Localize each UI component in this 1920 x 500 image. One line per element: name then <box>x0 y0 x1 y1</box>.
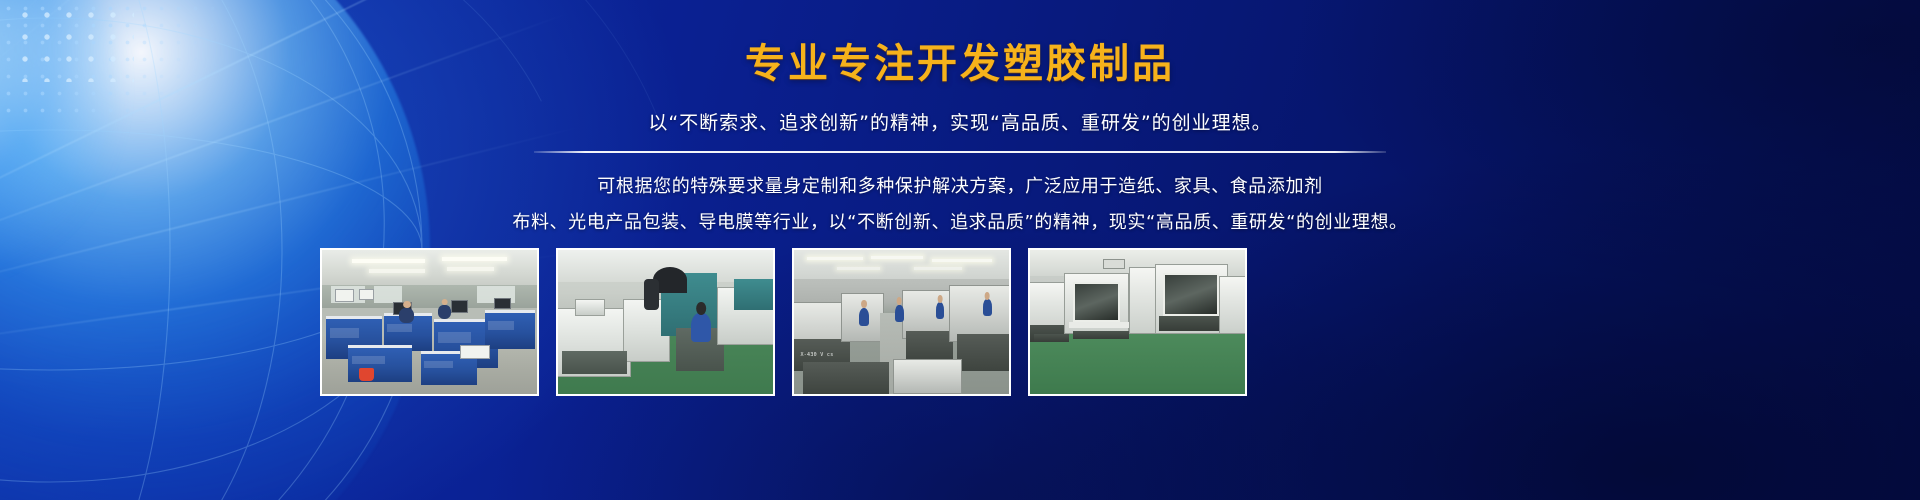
photo-3-scene: X-430 V cs <box>794 250 1009 394</box>
banner-title: 专业专注开发塑胶制品 <box>0 42 1920 86</box>
horizontal-divider <box>534 151 1386 153</box>
photo-production-line-hall: X-430 V cs <box>792 248 1011 396</box>
photo-1-scene <box>322 250 537 394</box>
banner-subtitle: 以“不断索求、追求创新”的精神，实现“高品质、重研发”的创业理想。 <box>0 108 1920 135</box>
photo-cnc-machining-shop <box>556 248 775 396</box>
photo-cnc-enclosed-machine <box>1028 248 1247 396</box>
photo-4-scene <box>1030 250 1245 394</box>
banner-body-line-1: 可根据您的特殊要求量身定制和多种保护解决方案，广泛应用于造纸、家具、食品添加剂 <box>0 169 1920 205</box>
hero-banner: 专业专注开发塑胶制品 以“不断索求、追求创新”的精神，实现“高品质、重研发”的创… <box>0 0 1920 500</box>
banner-content: 专业专注开发塑胶制品 以“不断索求、追求创新”的精神，实现“高品质、重研发”的创… <box>0 0 1920 241</box>
banner-body-line-2: 布料、光电产品包装、导电膜等行业，以“不断创新、追求品质”的精神，现实“高品质、… <box>0 205 1920 241</box>
photo-2-scene <box>558 250 773 394</box>
banner-body: 可根据您的特殊要求量身定制和多种保护解决方案，广泛应用于造纸、家具、食品添加剂 … <box>0 169 1920 241</box>
photo-office-workstations <box>320 248 539 396</box>
photo-strip: X-430 V cs <box>320 248 1250 396</box>
machine-label: X-430 V cs <box>800 352 833 358</box>
